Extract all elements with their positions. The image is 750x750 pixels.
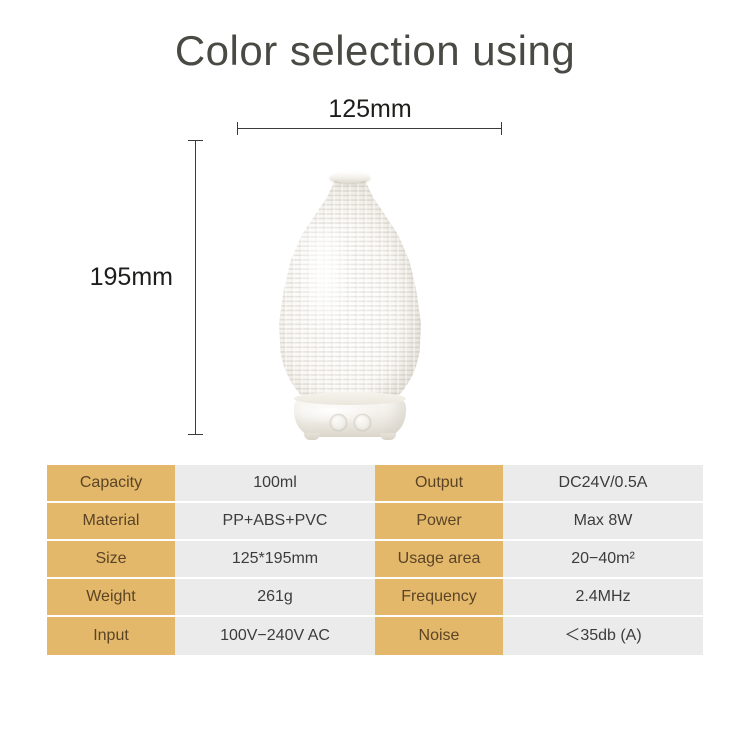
spec-value-input: 100V−240V AC: [175, 617, 375, 655]
spec-value-usage-area: 20−40m²: [503, 541, 703, 579]
spec-value-noise: ＜35db (A): [503, 617, 703, 655]
spec-label-capacity: Capacity: [47, 465, 175, 503]
base-foot-left: [304, 433, 320, 440]
diffuser-weave-vertical: [279, 175, 421, 415]
diffuser-top-rim: [330, 172, 370, 183]
width-tick-left-icon: [237, 122, 238, 135]
table-row: Capacity 100ml Output DC24V/0.5A: [47, 465, 703, 503]
diffuser-base: [294, 397, 406, 437]
table-row: Input 100V−240V AC Noise ＜35db (A): [47, 617, 703, 655]
spec-label-noise: Noise: [375, 617, 503, 655]
spec-label-weight: Weight: [47, 579, 175, 617]
height-dimension-line: [195, 140, 196, 435]
spec-value-weight: 261g: [175, 579, 375, 617]
spec-value-capacity: 100ml: [175, 465, 375, 503]
table-row: Size 125*195mm Usage area 20−40m²: [47, 541, 703, 579]
height-tick-top-icon: [188, 140, 203, 141]
spec-value-size: 125*195mm: [175, 541, 375, 579]
spec-label-size: Size: [47, 541, 175, 579]
spec-label-input: Input: [47, 617, 175, 655]
spec-label-usage-area: Usage area: [375, 541, 503, 579]
height-dimension-label: 195mm: [58, 263, 173, 292]
diffuser-body: [279, 175, 421, 415]
spec-value-frequency: 2.4MHz: [503, 579, 703, 617]
base-foot-right: [380, 433, 396, 440]
product-image-diffuser: [268, 175, 432, 440]
page-title: Color selection using: [0, 28, 750, 74]
table-row: Weight 261g Frequency 2.4MHz: [47, 579, 703, 617]
table-row: Material PP+ABS+PVC Power Max 8W: [47, 503, 703, 541]
light-button-icon[interactable]: [354, 414, 371, 431]
spec-value-material: PP+ABS+PVC: [175, 503, 375, 541]
power-button-icon[interactable]: [330, 414, 347, 431]
width-tick-right-icon: [501, 122, 502, 135]
spec-label-output: Output: [375, 465, 503, 503]
specification-table: Capacity 100ml Output DC24V/0.5A Materia…: [47, 465, 703, 655]
diffuser-base-top-edge: [294, 392, 406, 405]
width-dimension-line: [237, 128, 502, 129]
spec-value-output: DC24V/0.5A: [503, 465, 703, 503]
height-tick-bottom-icon: [188, 434, 203, 435]
product-dimension-area: 125mm 195mm: [0, 95, 750, 455]
spec-label-material: Material: [47, 503, 175, 541]
width-dimension-label: 125mm: [240, 95, 500, 124]
spec-label-frequency: Frequency: [375, 579, 503, 617]
spec-value-power: Max 8W: [503, 503, 703, 541]
spec-label-power: Power: [375, 503, 503, 541]
